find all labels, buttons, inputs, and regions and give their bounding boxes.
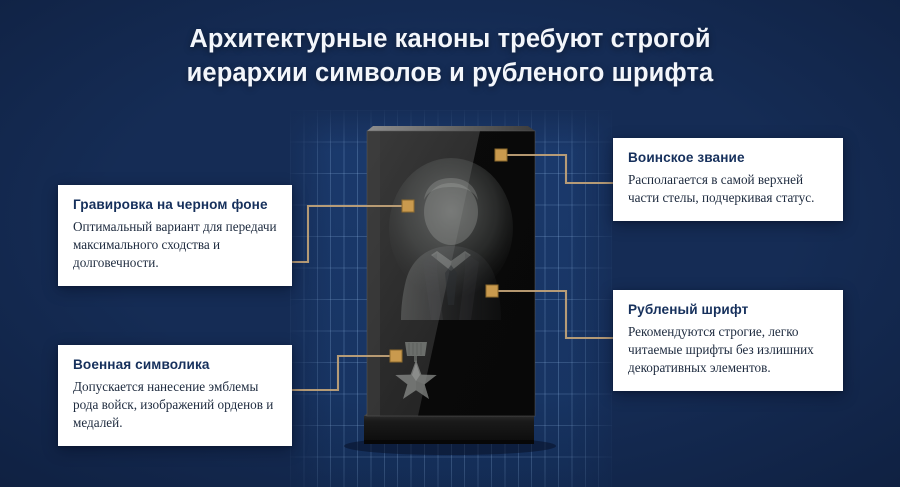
callout-heading-engraving: Гравировка на черном фоне	[73, 197, 277, 212]
callout-heading-font: Рубленый шрифт	[628, 302, 828, 317]
page-title-line-2: иерархии символов и рубленого шрифта	[0, 56, 900, 90]
callout-heading-symbols: Военная символика	[73, 357, 277, 372]
callout-card-font[interactable]: Рубленый шрифт Рекомендуются строгие, ле…	[613, 290, 843, 391]
callout-body-font: Рекомендуются строгие, легко читаемые шр…	[628, 323, 828, 377]
callout-body-engraving: Оптимальный вариант для передачи максима…	[73, 218, 277, 272]
callout-card-engraving[interactable]: Гравировка на черном фоне Оптимальный ва…	[58, 185, 292, 286]
callout-body-symbols: Допускается нанесение эмблемы рода войск…	[73, 378, 277, 432]
callout-body-rank: Располагается в самой верхней части стел…	[628, 171, 828, 207]
page-title-line-1: Архитектурные каноны требуют строгой	[0, 22, 900, 56]
callout-card-rank[interactable]: Воинское звание Располагается в самой ве…	[613, 138, 843, 221]
page-title: Архитектурные каноны требуют строгой иер…	[0, 22, 900, 90]
callout-card-symbols[interactable]: Военная символика Допускается нанесение …	[58, 345, 292, 446]
blueprint-grid-panel	[290, 110, 612, 487]
callout-heading-rank: Воинское звание	[628, 150, 828, 165]
